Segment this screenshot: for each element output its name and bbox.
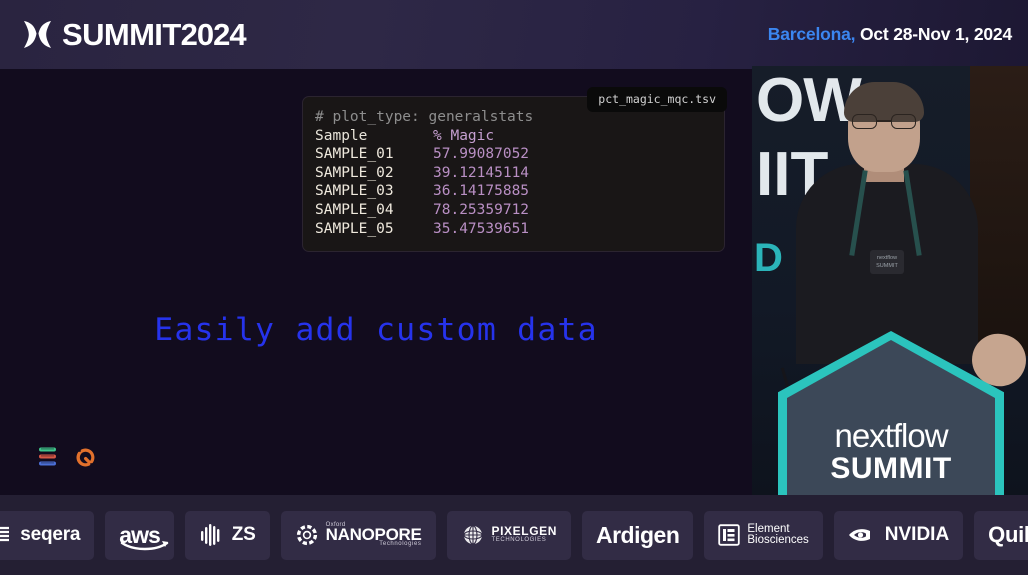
sponsor-tile-aws[interactable]: aws (105, 511, 173, 560)
code-sample-container: pct_magic_mqc.tsv # plot_type: generalst… (302, 96, 725, 252)
table-row: SAMPLE_0535.47539651 (315, 220, 724, 239)
speaker-glasses-icon (852, 114, 916, 129)
summit-x-logo-icon (22, 20, 53, 49)
stage-side-panel (970, 66, 1028, 356)
zs-bars-icon (199, 522, 225, 548)
brand-year: 2024 (181, 17, 246, 52)
column-header-sample: Sample (315, 127, 433, 146)
sponsor-tile-seqera[interactable]: seqera (0, 511, 94, 560)
file-name-badge: pct_magic_mqc.tsv (587, 87, 727, 112)
podium-brand-line2: SUMMIT (778, 453, 1004, 485)
sponsor-tile-quilt[interactable]: Quilt (974, 511, 1028, 560)
slide-footer-logos (38, 446, 96, 468)
presentation-recording-view: SUMMIT2024 Barcelona, Oct 28-Nov 1, 2024… (0, 0, 1028, 575)
sponsor-tile-nvidia[interactable]: NVIDIA (834, 511, 963, 560)
sponsor-tile-element-biosciences[interactable]: Element Biosciences (704, 511, 822, 560)
speaker-video-panel[interactable]: OW IIT D nextflow SUMMIT nf-core seq (752, 66, 1028, 495)
sponsor-name: Ardigen (596, 522, 679, 549)
row-value: 35.47539651 (433, 221, 529, 237)
row-sample: SAMPLE_01 (315, 145, 433, 164)
sponsor-tile-ardigen[interactable]: Ardigen (582, 511, 693, 560)
sponsor-name: NVIDIA (885, 524, 949, 546)
sponsor-logo-bar: seqera aws ZS (0, 495, 1028, 575)
sponsor-name: seqera (20, 524, 80, 546)
code-block: # plot_type: generalstats Sample% Magic … (302, 96, 725, 252)
row-sample: SAMPLE_05 (315, 220, 433, 239)
table-row: SAMPLE_0336.14175885 (315, 182, 724, 201)
podium-brand-line1: nextflow (778, 419, 1004, 453)
brand-title: SUMMIT2024 (62, 19, 246, 50)
table-row: SAMPLE_0478.25359712 (315, 201, 724, 220)
seqera-stacked-bars-logo-icon (38, 446, 58, 468)
event-city: Barcelona, (768, 24, 855, 44)
sponsor-name: ZS (232, 524, 256, 546)
nvidia-eye-icon (848, 525, 878, 545)
slide-content: pct_magic_mqc.tsv # plot_type: generalst… (0, 69, 752, 495)
row-value: 57.99087052 (433, 146, 529, 162)
sponsor-tile-nanopore[interactable]: Oxford NANOPORE Technologies (281, 511, 436, 560)
brand-lockup: SUMMIT2024 (22, 19, 246, 50)
nanopore-gear-icon (295, 523, 319, 547)
row-value: 36.14175885 (433, 183, 529, 199)
aws-smile-icon (120, 541, 170, 552)
sponsor-tile-zs[interactable]: ZS (185, 511, 270, 560)
row-value: 78.25359712 (433, 202, 529, 218)
event-dates: Oct 28-Nov 1, 2024 (860, 24, 1012, 44)
seqera-mark-icon (0, 524, 13, 546)
event-header: SUMMIT2024 Barcelona, Oct 28-Nov 1, 2024 (0, 0, 1028, 69)
column-header-magic: % Magic (433, 128, 494, 144)
sponsor-name-second-line: Biosciences (747, 535, 808, 547)
sponsor-tile-pixelgen[interactable]: PIXELGEN TECHNOLOGIES (447, 511, 571, 560)
sponsor-name-block: Element Biosciences (747, 524, 808, 547)
backdrop-accent-mark: D (754, 238, 783, 278)
event-location-dates: Barcelona, Oct 28-Nov 1, 2024 (768, 24, 1012, 45)
row-sample: SAMPLE_04 (315, 201, 433, 220)
speaker-shirt-print: nextflow SUMMIT (870, 250, 904, 274)
quilt-q-logo-icon (75, 447, 96, 468)
row-sample: SAMPLE_02 (315, 164, 433, 183)
table-row: SAMPLE_0239.12145114 (315, 164, 724, 183)
code-header-row: Sample% Magic (315, 127, 724, 146)
pixelgen-sphere-icon (461, 523, 485, 547)
element-biosciences-icon (718, 524, 740, 546)
row-sample: SAMPLE_03 (315, 182, 433, 201)
table-row: SAMPLE_0157.99087052 (315, 145, 724, 164)
sponsor-name: Quilt (988, 522, 1028, 548)
podium-sign: nextflow SUMMIT (778, 331, 1004, 495)
slide-headline: Easily add custom data (0, 312, 752, 348)
row-value: 39.12145114 (433, 165, 529, 181)
brand-word: SUMMIT (62, 17, 181, 52)
